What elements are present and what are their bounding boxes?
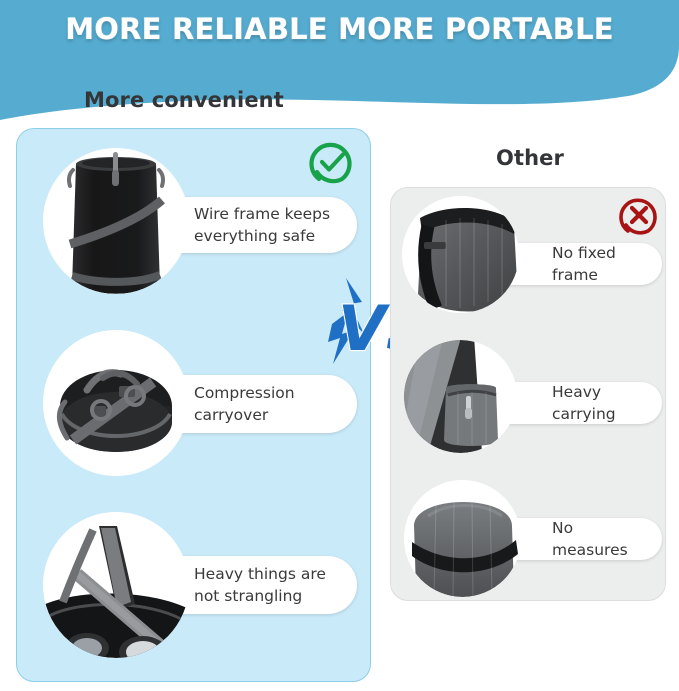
infographic-root: MORE RELIABLE MORE PORTABLE More conveni… [0, 0, 679, 691]
left-column-heading: More convenient [84, 88, 284, 112]
grey-collapsed-bag-photo [404, 480, 521, 597]
feature-label: Heavy carrying [552, 381, 648, 426]
x-circle-icon [614, 190, 664, 240]
page-title: MORE RELIABLE MORE PORTABLE [0, 12, 679, 46]
grey-bag-on-shoulder-photo [404, 340, 517, 453]
feature-label: No fixed frame [552, 242, 648, 287]
grey-slouchy-bag-photo [402, 196, 519, 313]
feature-label: Heavy things are not strangling [194, 563, 326, 608]
padded-shoulder-strap-photo [43, 512, 189, 658]
check-circle-icon [304, 134, 360, 190]
black-popup-hamper-photo [43, 148, 189, 294]
feature-label: Compression carryover [194, 382, 295, 427]
collapsed-bag-with-straps-photo [43, 330, 189, 476]
right-column-heading: Other [496, 146, 564, 170]
feature-label: Wire frame keeps everything safe [194, 203, 330, 248]
feature-label: No measures [552, 517, 648, 562]
